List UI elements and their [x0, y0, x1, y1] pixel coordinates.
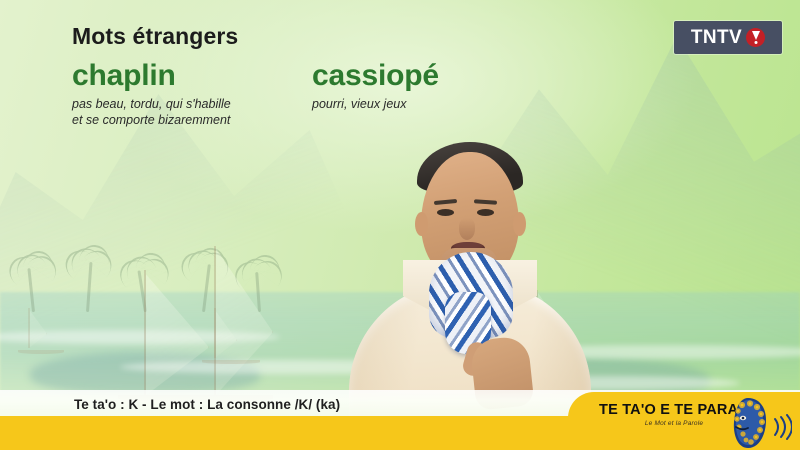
tiki-head-icon: [726, 396, 770, 450]
presenter: [355, 122, 585, 422]
presenter-ear: [513, 212, 526, 236]
vocabulary-columns: chaplin pas beau, tordu, qui s'habille e…: [72, 61, 502, 128]
show-logo: TE TA'O E TE PARAU Le Mot et la Parole: [568, 392, 800, 450]
vocabulary-term: chaplin: [72, 61, 312, 91]
presenter-ear: [415, 212, 428, 236]
page-title: Mots étrangers: [72, 24, 502, 49]
vocabulary-panel: Mots étrangers chaplin pas beau, tordu, …: [72, 24, 502, 128]
vocabulary-definition: pourri, vieux jeux: [312, 96, 502, 112]
channel-logo: TNTV: [674, 21, 782, 54]
channel-logo-text: TNTV: [691, 27, 742, 49]
vocabulary-term: cassiopé: [312, 61, 502, 91]
vocabulary-definition: pas beau, tordu, qui s'habille et se com…: [72, 96, 312, 128]
broadcast-frame: Mots étrangers chaplin pas beau, tordu, …: [0, 0, 800, 450]
background-sailing-canoe: [202, 302, 260, 364]
sound-waves-icon: [772, 414, 792, 440]
tntv-flame-icon: [746, 28, 765, 47]
background-sailing-canoe: [18, 304, 64, 354]
vocabulary-entry: chaplin pas beau, tordu, qui s'habille e…: [72, 61, 312, 128]
vocabulary-definition-line: pas beau, tordu, qui s'habille: [72, 96, 312, 112]
palm-tree-icon: [66, 254, 106, 312]
lower-third-caption: Te ta'o : K - Le mot : La consonne /K/ (…: [74, 397, 340, 412]
presenter-eye: [477, 209, 494, 216]
presenter-eye: [437, 209, 454, 216]
vocabulary-definition-line: et se comporte bizaremment: [72, 112, 312, 128]
vocabulary-definition-line: pourri, vieux jeux: [312, 96, 502, 112]
vocabulary-entry: cassiopé pourri, vieux jeux: [312, 61, 502, 128]
presenter-nose: [459, 218, 475, 240]
